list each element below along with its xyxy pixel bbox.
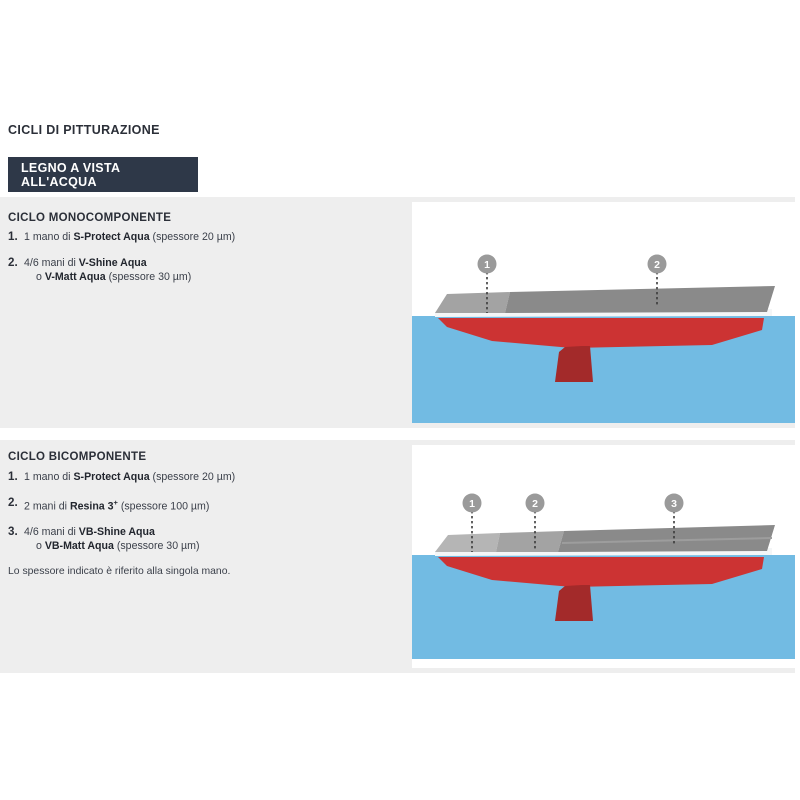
svg-text:2: 2 bbox=[532, 498, 538, 510]
step-product-name: VB-Shine Aqua bbox=[79, 526, 155, 538]
list-item: 3. 4/6 mani di VB-Shine Aqua o VB-Matt A… bbox=[8, 525, 408, 554]
panel-ciclo-monocomponente: CICLO MONOCOMPONENTE 1. 1 mano di S-Prot… bbox=[0, 197, 795, 428]
painting-cycles-page: CICLI DI PITTURAZIONE LEGNO A VISTA ALL'… bbox=[0, 0, 800, 800]
step-product-name: S-Protect Aqua bbox=[73, 471, 149, 483]
panel-ciclo-bicomponente: CICLO BICOMPONENTE 1. 1 mano di S-Protec… bbox=[0, 440, 795, 673]
step-alt-product-name: V-Matt Aqua bbox=[45, 271, 106, 283]
step-alt-pre: o bbox=[36, 540, 45, 552]
step-product-name: V-Shine Aqua bbox=[79, 257, 147, 269]
step-alt-post: (spessore 30 µm) bbox=[106, 271, 192, 283]
list-item: 2. 4/6 mani di V-Shine Aqua o V-Matt Aqu… bbox=[8, 256, 408, 285]
page-title: CICLI DI PITTURAZIONE bbox=[8, 123, 160, 137]
panel-title-bi: CICLO BICOMPONENTE bbox=[8, 451, 146, 463]
step-product-name: Resina 3 bbox=[70, 500, 114, 512]
step-number: 1. bbox=[8, 470, 18, 485]
step-alt-post: (spessore 30 µm) bbox=[114, 540, 200, 552]
boat-illustration-mono: 1 2 bbox=[412, 202, 795, 423]
steps-list-bi: 1. 1 mano di S-Protect Aqua (spessore 20… bbox=[8, 470, 408, 565]
step-number: 1. bbox=[8, 230, 18, 245]
boat-illustration-bi: 1 2 3 bbox=[412, 445, 795, 668]
step-alternative: o VB-Matt Aqua (spessore 30 µm) bbox=[24, 539, 408, 554]
step-text-pre: 4/6 mani di bbox=[24, 257, 79, 269]
step-alternative: o V-Matt Aqua (spessore 30 µm) bbox=[24, 270, 408, 285]
step-text-pre: 1 mano di bbox=[24, 231, 73, 243]
list-item: 1. 1 mano di S-Protect Aqua (spessore 20… bbox=[8, 230, 408, 245]
svg-text:2: 2 bbox=[654, 259, 660, 271]
svg-text:1: 1 bbox=[469, 498, 475, 510]
steps-list-mono: 1. 1 mano di S-Protect Aqua (spessore 20… bbox=[8, 230, 408, 296]
step-number: 2. bbox=[8, 496, 18, 511]
category-badge: LEGNO A VISTA ALL'ACQUA bbox=[8, 157, 198, 192]
step-number: 3. bbox=[8, 525, 18, 540]
step-text-pre: 2 mani di bbox=[24, 500, 70, 512]
step-alt-pre: o bbox=[36, 271, 45, 283]
list-item: 1. 1 mano di S-Protect Aqua (spessore 20… bbox=[8, 470, 408, 485]
step-text-post: (spessore 20 µm) bbox=[150, 231, 236, 243]
step-text-post: (spessore 20 µm) bbox=[150, 471, 236, 483]
step-text-pre: 1 mano di bbox=[24, 471, 73, 483]
svg-text:3: 3 bbox=[671, 498, 677, 510]
step-text-pre: 4/6 mani di bbox=[24, 526, 79, 538]
panel-title-mono: CICLO MONOCOMPONENTE bbox=[8, 212, 171, 224]
step-alt-product-name: VB-Matt Aqua bbox=[45, 540, 114, 552]
list-item: 2. 2 mani di Resina 3+ (spessore 100 µm) bbox=[8, 496, 408, 514]
step-number: 2. bbox=[8, 256, 18, 271]
category-badge-label: LEGNO A VISTA ALL'ACQUA bbox=[21, 161, 198, 189]
step-text-post: (spessore 100 µm) bbox=[118, 500, 209, 512]
svg-text:1: 1 bbox=[484, 259, 490, 271]
step-product-name: S-Protect Aqua bbox=[73, 231, 149, 243]
thickness-note-bi: Lo spessore indicato è riferito alla sin… bbox=[8, 566, 230, 577]
